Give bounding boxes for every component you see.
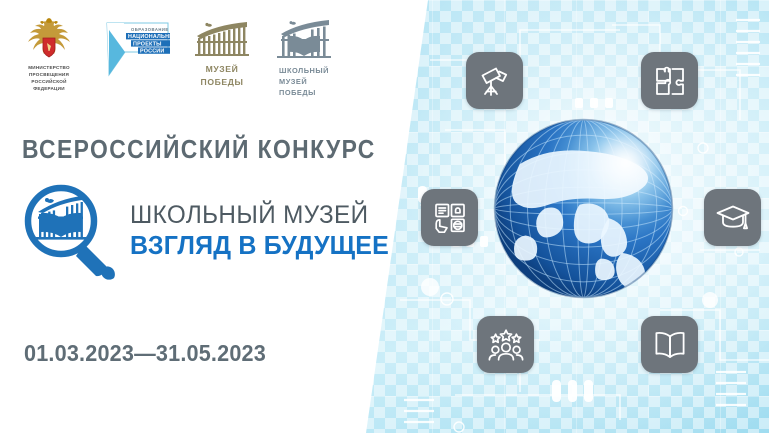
contest-title-line2: ВЗГЛЯД В БУДУЩЕЕ xyxy=(130,231,389,260)
museum-colonnade-icon xyxy=(191,18,253,60)
logo-school-victory-museum: ШКОЛЬНЫЙ МУЗЕЙ ПОБЕДЫ xyxy=(268,18,340,98)
tile-telescope[interactable] xyxy=(466,52,523,109)
open-book-icon xyxy=(653,328,687,362)
tile-museum-exhibit[interactable] xyxy=(421,189,478,246)
logo-ministry-of-education: МИНИСТЕРСТВО ПРОСВЕЩЕНИЯ РОССИЙСКОЙ ФЕДЕ… xyxy=(12,18,86,93)
poster-banner: МИНИСТЕРСТВО ПРОСВЕЩЕНИЯ РОССИЙСКОЙ ФЕДЕ… xyxy=(0,0,769,433)
people-stars-icon xyxy=(488,328,524,362)
logo-victory-museum-caption: МУЗЕЙ ПОБЕДЫ xyxy=(201,63,244,89)
svg-text:НАЦИОНАЛЬНЫЕ: НАЦИОНАЛЬНЫЕ xyxy=(128,34,172,40)
puzzle-pieces-icon xyxy=(653,64,687,98)
national-projects-ribbon-icon: ОБРАЗОВАНИЕ НАЦИОНАЛЬНЫЕ ПРОЕКТЫ РОССИИ xyxy=(100,20,172,78)
tile-people-stars[interactable] xyxy=(477,316,534,373)
logo-victory-museum: МУЗЕЙ ПОБЕДЫ xyxy=(186,18,258,89)
tile-puzzle[interactable] xyxy=(641,52,698,109)
contest-title-line1: ШКОЛЬНЫЙ МУЗЕЙ xyxy=(130,202,392,228)
museum-book-colonnade-icon xyxy=(273,18,335,62)
contest-lockup: ШКОЛЬНЫЙ МУЗЕЙ ВЗГЛЯД В БУДУЩЕЕ xyxy=(18,180,400,282)
globe-icon xyxy=(487,112,680,305)
date-range: 01.03.2023—31.05.2023 xyxy=(24,340,266,367)
logo-ministry-caption: МИНИСТЕРСТВО ПРОСВЕЩЕНИЯ РОССИЙСКОЙ ФЕДЕ… xyxy=(28,65,70,93)
svg-text:РОССИИ: РОССИИ xyxy=(140,49,164,55)
logo-school-museum-caption: ШКОЛЬНЫЙ МУЗЕЙ ПОБЕДЫ xyxy=(279,65,329,98)
telescope-icon xyxy=(477,63,513,99)
double-headed-eagle-icon xyxy=(24,18,74,62)
page-title: ВСЕРОССИЙСКИЙ КОНКУРС xyxy=(22,134,376,165)
graduation-cap-icon xyxy=(715,201,751,235)
contest-titles: ШКОЛЬНЫЙ МУЗЕЙ ВЗГЛЯД В БУДУЩЕЕ xyxy=(130,202,400,259)
magnifier-museum-icon xyxy=(18,180,120,282)
np-top-label: ОБРАЗОВАНИЕ xyxy=(131,27,169,32)
museum-exhibit-icon xyxy=(432,200,468,236)
tile-open-book[interactable] xyxy=(641,316,698,373)
tile-graduation-cap[interactable] xyxy=(704,189,761,246)
partner-logos: МИНИСТЕРСТВО ПРОСВЕЩЕНИЯ РОССИЙСКОЙ ФЕДЕ… xyxy=(12,18,340,98)
logo-national-projects: ОБРАЗОВАНИЕ НАЦИОНАЛЬНЫЕ ПРОЕКТЫ РОССИИ xyxy=(96,20,176,78)
magnifier-logo xyxy=(18,180,120,282)
svg-text:ПРОЕКТЫ: ПРОЕКТЫ xyxy=(133,41,162,47)
